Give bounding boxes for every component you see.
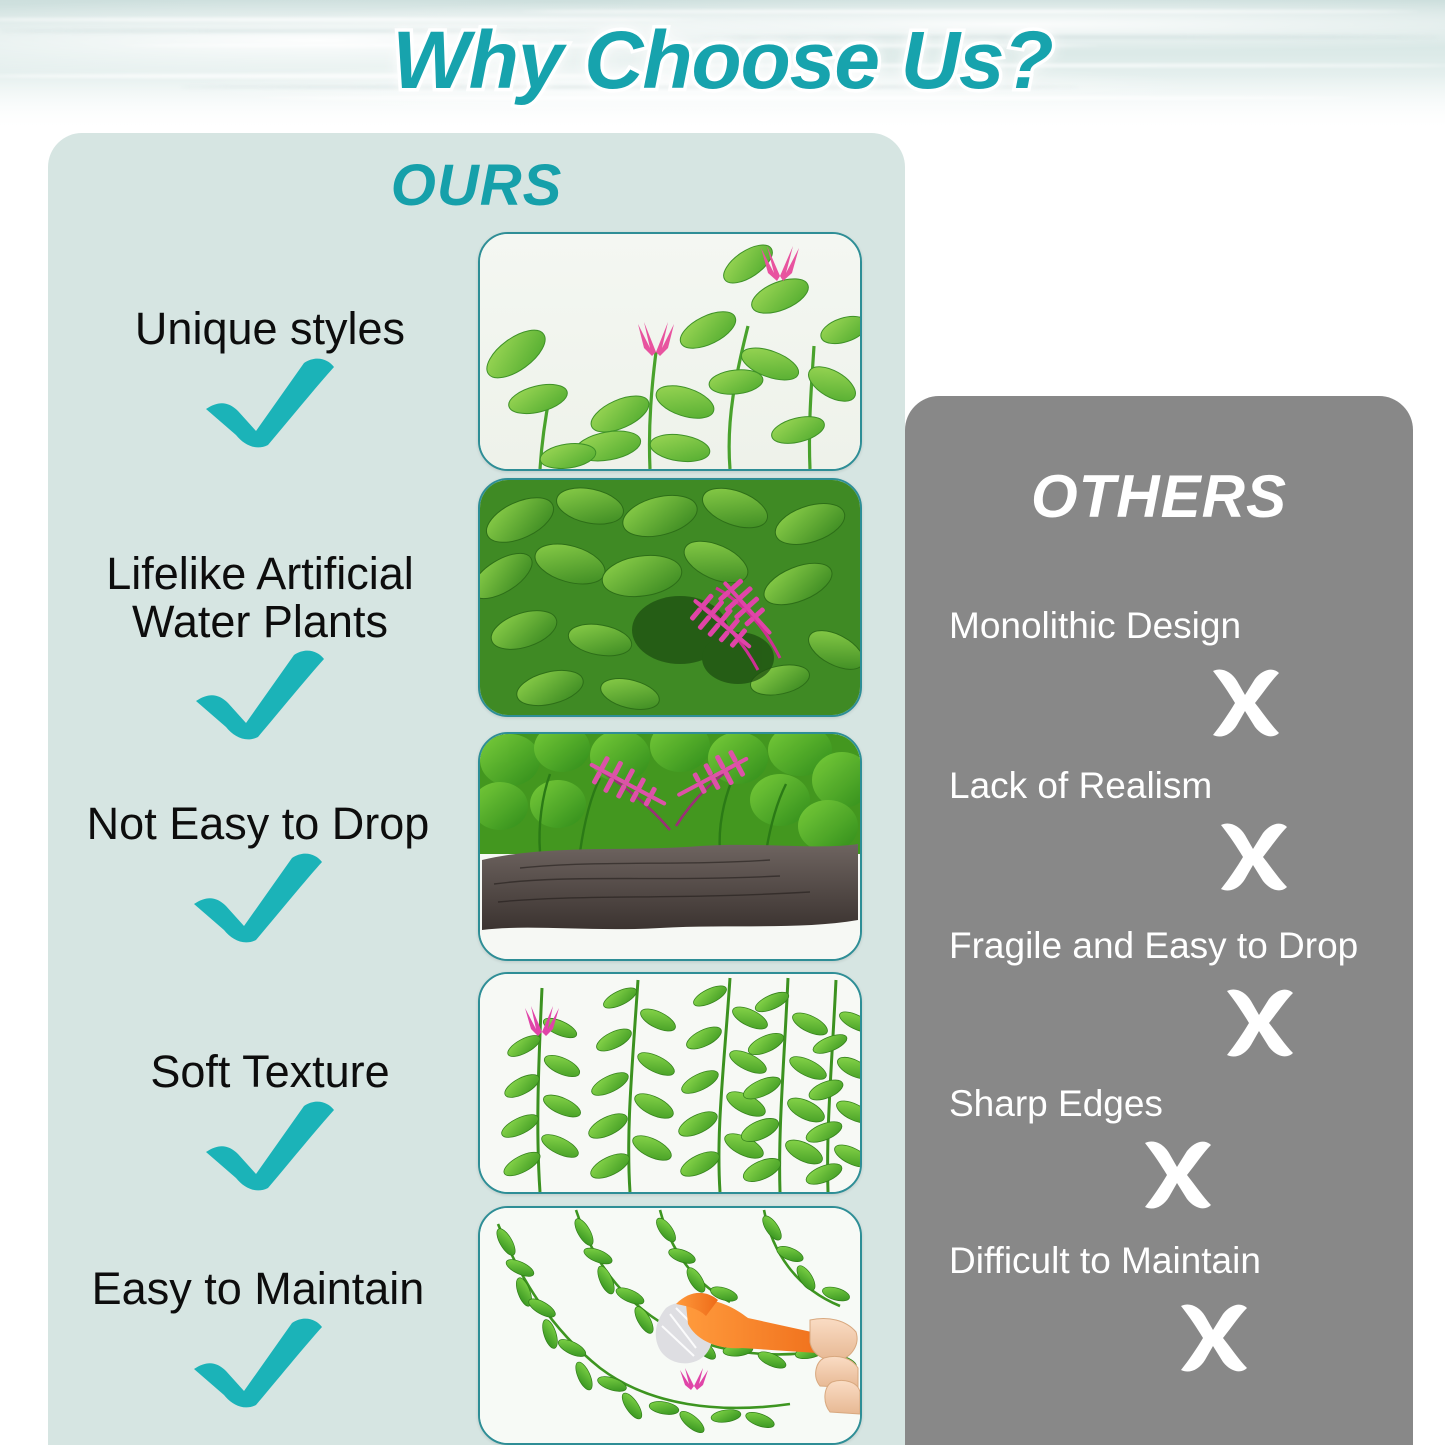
others-item-2: Lack of Realism — [905, 765, 1413, 905]
photo-brush-cleaning — [478, 1206, 862, 1445]
photo-dense-foliage — [478, 478, 862, 717]
others-item-3-label: Fragile and Easy to Drop — [949, 925, 1358, 967]
check-icon — [190, 649, 330, 741]
check-icon — [200, 357, 340, 449]
cross-icon — [1137, 1135, 1217, 1215]
check-icon — [188, 1317, 328, 1409]
photo-flowering-plants — [478, 232, 862, 471]
infographic-root: Why Choose Us? OURS OTHERS — [0, 0, 1445, 1445]
ours-item-1-label: Unique styles — [70, 305, 470, 353]
others-item-4: Sharp Edges — [905, 1083, 1413, 1223]
ours-item-2-label: Lifelike Artificial Water Plants — [60, 550, 460, 645]
cross-icon — [1205, 663, 1285, 743]
ours-heading: OURS — [48, 152, 905, 219]
others-item-3: Fragile and Easy to Drop — [905, 925, 1413, 1065]
others-item-2-label: Lack of Realism — [949, 765, 1212, 807]
others-item-5-label: Difficult to Maintain — [949, 1240, 1261, 1282]
check-icon — [200, 1100, 340, 1192]
ours-item-3: Not Easy to Drop — [58, 800, 458, 944]
ours-item-4-label: Soft Texture — [70, 1048, 470, 1096]
photo-plant-stems — [478, 972, 862, 1194]
ours-item-2: Lifelike Artificial Water Plants — [60, 550, 460, 741]
ours-item-1: Unique styles — [70, 305, 470, 449]
others-item-1-label: Monolithic Design — [949, 605, 1241, 647]
cross-icon — [1173, 1298, 1253, 1378]
ours-item-3-label: Not Easy to Drop — [58, 800, 458, 848]
others-item-4-label: Sharp Edges — [949, 1083, 1163, 1125]
photo-driftwood-base — [478, 732, 862, 961]
check-icon — [188, 852, 328, 944]
cross-icon — [1213, 817, 1293, 897]
ours-item-4: Soft Texture — [70, 1048, 470, 1192]
ours-item-5: Easy to Maintain — [58, 1265, 458, 1409]
others-item-1: Monolithic Design — [905, 605, 1413, 745]
others-item-5: Difficult to Maintain — [905, 1240, 1413, 1400]
cross-icon — [1219, 983, 1299, 1063]
page-title: Why Choose Us? — [0, 14, 1445, 108]
ours-item-5-label: Easy to Maintain — [58, 1265, 458, 1313]
others-heading: OTHERS — [905, 462, 1413, 531]
